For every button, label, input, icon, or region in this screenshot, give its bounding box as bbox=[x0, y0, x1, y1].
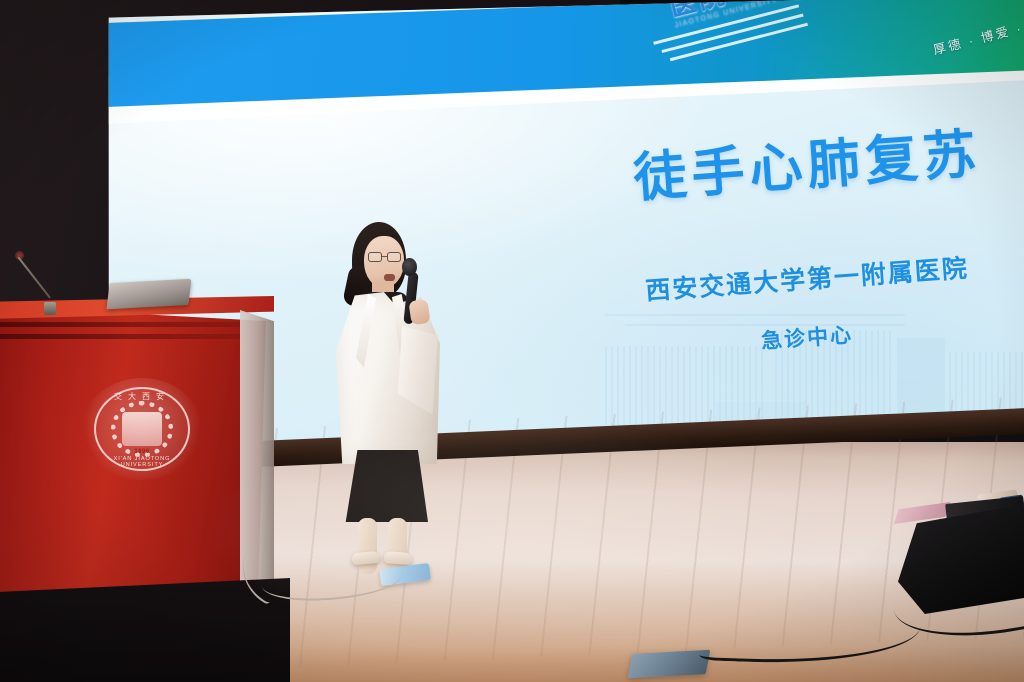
podium-groove-2 bbox=[0, 334, 258, 339]
presenter-hand bbox=[408, 299, 430, 325]
presenter-mouth bbox=[384, 274, 395, 281]
handheld-microphone-head-icon[interactable] bbox=[402, 258, 417, 276]
stage-photo: 医院 JIAOTONG UNIVERSITY 厚德 · 博爱 · 精医 · 卓越… bbox=[0, 0, 1024, 682]
slide-title: 徒手心肺复苏 bbox=[565, 107, 1024, 217]
podium-side-panel bbox=[240, 310, 274, 590]
presenter-skirt bbox=[344, 450, 428, 522]
emblem-year: 1896 bbox=[96, 449, 188, 455]
university-emblem: 交大西安 1896 XI'AN JIAOTONG UNIVERSITY bbox=[82, 378, 202, 480]
emblem-chinese-text: 交大西安 bbox=[96, 391, 188, 402]
podium-microphone[interactable] bbox=[14, 250, 72, 312]
microphone-gooseneck bbox=[17, 256, 51, 298]
presenter bbox=[326, 222, 448, 567]
emblem-anvil-icon bbox=[122, 412, 162, 446]
podium-groove-1 bbox=[0, 322, 258, 327]
stage-floor-outlet[interactable] bbox=[628, 650, 711, 678]
emblem-english-text: XI'AN JIAOTONG UNIVERSITY bbox=[96, 456, 188, 468]
stage-front-panel bbox=[0, 578, 290, 682]
glasses-icon bbox=[368, 252, 402, 263]
emblem-outer-ring: 交大西安 1896 XI'AN JIAOTONG UNIVERSITY bbox=[94, 387, 190, 471]
microphone-base bbox=[44, 302, 56, 315]
laptop-screen[interactable] bbox=[106, 279, 191, 309]
